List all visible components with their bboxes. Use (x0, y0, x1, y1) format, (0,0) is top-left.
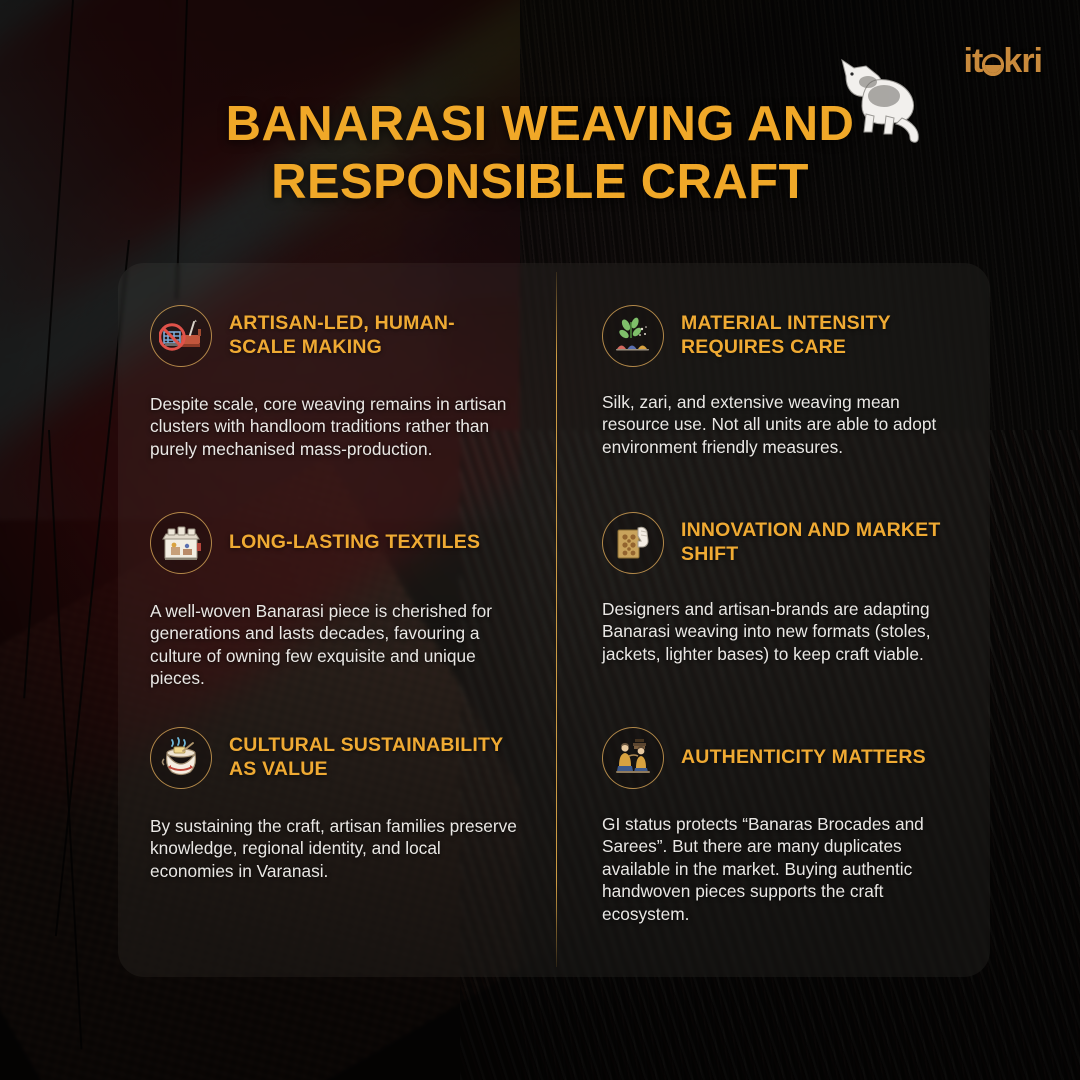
card-title: CULTURAL SUSTAINABILITY AS VALUE (229, 734, 520, 782)
cat-mascot-icon (832, 52, 928, 144)
card-header: AUTHENTICITY MATTERS (602, 727, 964, 789)
insight-card-innovation-market-shift: INNOVATION AND MARKET SHIFT Designers an… (554, 512, 990, 727)
leaves-dye-pigment-icon (602, 305, 664, 367)
insight-card-cultural-sustainability: CULTURAL SUSTAINABILITY AS VALUE By sust… (118, 727, 554, 967)
hand-holding-brocade-icon (602, 512, 664, 574)
insight-grid: ARTISAN-LED, HUMAN-SCALE MAKING Despite … (118, 263, 990, 977)
steaming-clay-pot-icon (150, 727, 212, 789)
card-title: AUTHENTICITY MATTERS (681, 746, 926, 770)
brand-name-part-1: it (964, 42, 983, 80)
card-body: Despite scale, core weaving remains in a… (150, 393, 520, 460)
card-header: LONG-LASTING TEXTILES (150, 512, 520, 574)
insight-card-long-lasting-textiles: LONG-LASTING TEXTILES A well-woven Banar… (118, 512, 554, 727)
insight-card-authenticity-matters: AUTHENTICITY MATTERS GI status protects … (554, 727, 990, 967)
card-header: ARTISAN-LED, HUMAN-SCALE MAKING (150, 305, 520, 367)
card-header: CULTURAL SUSTAINABILITY AS VALUE (150, 727, 520, 789)
card-header: MATERIAL INTENSITY REQUIRES CARE (602, 305, 964, 367)
card-body: Designers and artisan-brands are adaptin… (602, 598, 964, 665)
brand-name-part-2: kri (1003, 42, 1042, 80)
card-title: ARTISAN-LED, HUMAN-SCALE MAKING (229, 312, 520, 360)
card-body: By sustaining the craft, artisan familie… (150, 815, 520, 882)
card-body: Silk, zari, and extensive weaving mean r… (602, 391, 964, 458)
card-body: GI status protects “Banaras Brocades and… (602, 813, 964, 925)
craft-shop-storefront-icon (150, 512, 212, 574)
no-machine-handcraft-icon (150, 305, 212, 367)
infographic-poster: itkri BANARASI WEAVING AND RESPONSIBLE C… (0, 0, 1080, 1080)
card-title: LONG-LASTING TEXTILES (229, 531, 480, 555)
brand-logo-o-glyph (982, 42, 1003, 81)
card-header: INNOVATION AND MARKET SHIFT (602, 512, 964, 574)
insight-card-material-intensity: MATERIAL INTENSITY REQUIRES CARE Silk, z… (554, 305, 990, 512)
card-title: INNOVATION AND MARKET SHIFT (681, 519, 964, 567)
brand-logo[interactable]: itkri (964, 42, 1042, 81)
two-seated-artisans-icon (602, 727, 664, 789)
insight-card-artisan-led: ARTISAN-LED, HUMAN-SCALE MAKING Despite … (118, 305, 554, 512)
card-title: MATERIAL INTENSITY REQUIRES CARE (681, 312, 964, 360)
card-body: A well-woven Banarasi piece is cherished… (150, 600, 520, 690)
